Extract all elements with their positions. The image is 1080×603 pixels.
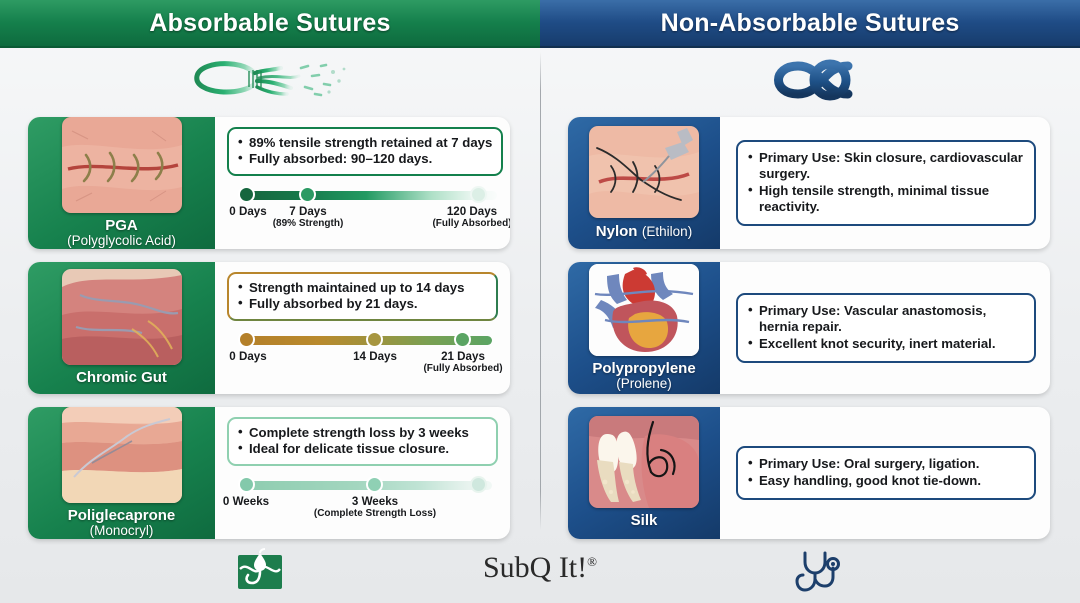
stethoscope-icon [795,548,843,599]
pga-bullet-1: 89% tensile strength retained at 7 days [238,135,492,151]
polypropylene-subtitle: (Prolene) [592,377,695,392]
header-non-absorbable: Non-Absorbable Sutures [540,0,1080,48]
column-divider [540,52,541,530]
nylon-facts-box: Primary Use: Skin closure, cardiovascula… [736,140,1036,225]
nylon-bullet-2: High tensile strength, minimal tissue re… [748,183,1024,215]
poliglecaprone-body: Complete strength loss by 3 weeks Ideal … [215,407,510,539]
silk-label: Silk [631,513,658,529]
polypropylene-name: Polypropylene [592,361,695,377]
nylon-name: Nylon [596,223,638,240]
card-silk[interactable]: Silk Primary Use: Oral surgery, ligation… [568,407,1050,539]
poliglecaprone-bullet-2: Ideal for delicate tissue closure. [238,441,487,457]
pga-name: PGA [67,218,176,234]
chromic-gut-stop-label-2: 21 Days (Fully Absorbed) [423,350,502,374]
card-nylon[interactable]: Nylon (Ethilon) Primary Use: Skin closur… [568,117,1050,249]
silk-image-pane: Silk [568,407,720,539]
pga-image-pane: PGA (Polyglycolic Acid) [28,117,215,249]
nylon-label: Nylon (Ethilon) [596,223,692,240]
chromic-gut-facts-box: Strength maintained up to 14 days Fully … [227,272,498,321]
sutured-skin-incision-photo [62,117,182,213]
pga-subtitle: (Polyglycolic Acid) [67,234,176,249]
poliglecaprone-label: Poliglecaprone (Monocryl) [68,508,176,539]
card-polypropylene[interactable]: Polypropylene (Prolene) Primary Use: Vas… [568,262,1050,394]
poliglecaprone-bullet-1: Complete strength loss by 3 weeks [238,425,487,441]
subq-skin-injection-logo [236,547,284,598]
chromic-gut-bullet-1: Strength maintained up to 14 days [238,280,487,296]
chromic-gut-stop-dot-0 [238,331,255,348]
silk-bullet-2: Easy handling, good knot tie-down. [748,473,1024,489]
poliglecaprone-stop-label-0: 0 Weeks [223,495,269,508]
nylon-bullet-1: Primary Use: Skin closure, cardiovascula… [748,150,1024,182]
heart-vascular-anatomy-photo [589,264,699,356]
silk-body: Primary Use: Oral surgery, ligation. Eas… [720,407,1050,539]
polypropylene-facts-box: Primary Use: Vascular anastomosis, herni… [736,293,1036,362]
subcuticular-skin-layers-photo [62,407,182,503]
pga-timeline-bar [245,191,497,200]
chromic-gut-stop-label-0: 0 Days [229,350,266,363]
poliglecaprone-image-pane: Poliglecaprone (Monocryl) [28,407,215,539]
polypropylene-bullet-1: Primary Use: Vascular anastomosis, herni… [748,303,1024,335]
nylon-body: Primary Use: Skin closure, cardiovascula… [720,117,1050,249]
pga-stop-label-0: 0 Days [229,205,266,218]
header-non-absorbable-title: Non-Absorbable Sutures [661,9,960,38]
chromic-gut-stop-label-1: 14 Days [353,350,397,363]
poliglecaprone-stop-label-1: 3 Weeks (Complete Strength Loss) [314,495,436,519]
poliglecaprone-stop-dot-0 [238,476,255,493]
poliglecaprone-timeline: 0 Weeks 3 Weeks (Complete Strength Loss) [227,477,498,521]
pga-stop-dot-0 [238,186,255,203]
chromic-gut-timeline: 0 Days 14 Days 21 Days (Fully Absorbed) [227,332,498,376]
brand-wordmark: SubQ It!® [483,551,597,585]
dental-tooth-gum-suture-photo [589,416,699,508]
polypropylene-bullet-2: Excellent knot security, inert material. [748,336,1024,352]
chromic-gut-body: Strength maintained up to 14 days Fully … [215,262,510,394]
chromic-gut-image-pane: Chromic Gut [28,262,215,394]
skin-closure-needle-driver-photo [589,126,699,218]
polypropylene-body: Primary Use: Vascular anastomosis, herni… [720,262,1050,394]
nylon-subtitle: (Ethilon) [642,224,692,239]
poliglecaprone-name: Poliglecaprone [68,508,176,524]
header-absorbable-title: Absorbable Sutures [149,9,390,38]
poliglecaprone-stop-dot-2 [470,476,487,493]
dissolving-suture-thread-icon [170,52,370,108]
silk-name: Silk [631,513,658,529]
pga-body: 89% tensile strength retained at 7 days … [215,117,510,249]
registered-mark: ® [587,554,597,569]
pga-stop-label-2: 120 Days (Fully Absorbed) [432,205,510,229]
pga-bullet-2: Fully absorbed: 90–120 days. [238,151,492,167]
polypropylene-label: Polypropylene (Prolene) [592,361,695,392]
brand-name: SubQ It! [483,551,587,584]
infographic-root: Absorbable Sutures Non-Absorbable Suture… [0,0,1080,603]
silk-bullet-1: Primary Use: Oral surgery, ligation. [748,456,1024,472]
card-pga[interactable]: PGA (Polyglycolic Acid) 89% tensile stre… [28,117,510,249]
chromic-gut-bullet-2: Fully absorbed by 21 days. [238,296,487,312]
chromic-gut-stop-dot-1 [366,331,383,348]
pga-facts-box: 89% tensile strength retained at 7 days … [227,127,503,176]
card-chromic-gut[interactable]: Chromic Gut Strength maintained up to 14… [28,262,510,394]
bowel-tissue-suture-photo [62,269,182,365]
pga-stop-dot-2 [470,186,487,203]
chromic-gut-name: Chromic Gut [76,370,167,386]
nylon-image-pane: Nylon (Ethilon) [568,117,720,249]
poliglecaprone-facts-box: Complete strength loss by 3 weeks Ideal … [227,417,498,466]
chromic-gut-label: Chromic Gut [76,370,167,386]
pga-label: PGA (Polyglycolic Acid) [67,218,176,249]
surgical-square-knot-icon [718,52,908,108]
polypropylene-image-pane: Polypropylene (Prolene) [568,262,720,394]
footer: SubQ It!® [0,543,1080,603]
card-poliglecaprone[interactable]: Poliglecaprone (Monocryl) Complete stren… [28,407,510,539]
poliglecaprone-subtitle: (Monocryl) [68,524,176,539]
pga-stop-dot-1 [299,186,316,203]
chromic-gut-stop-dot-2 [454,331,471,348]
pga-stop-label-1: 7 Days (89% Strength) [273,205,344,229]
header-absorbable: Absorbable Sutures [0,0,540,48]
silk-facts-box: Primary Use: Oral surgery, ligation. Eas… [736,446,1036,499]
poliglecaprone-stop-dot-1 [366,476,383,493]
pga-timeline: 0 Days 7 Days (89% Strength) 120 Days (F… [227,187,503,231]
